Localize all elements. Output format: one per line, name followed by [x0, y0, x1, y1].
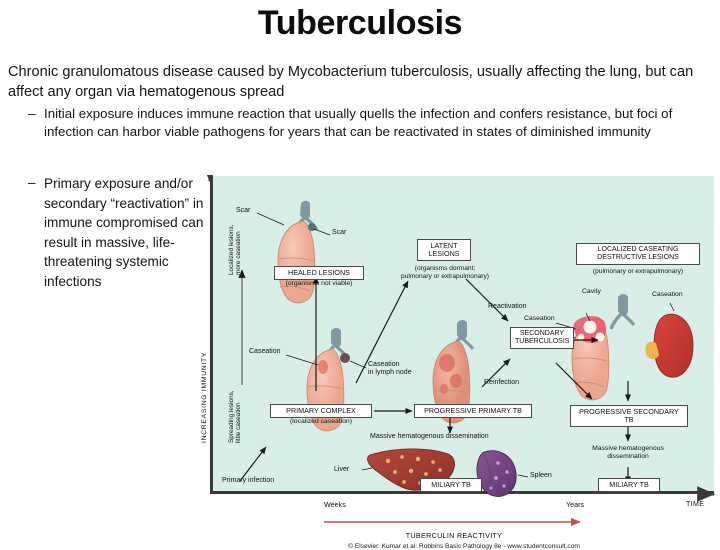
bullet-text-1: Initial exposure induces immune reaction…	[44, 105, 684, 141]
reactivation-label: Reactivation	[488, 303, 527, 311]
bullet-item-1: – Initial exposure induces immune reacti…	[28, 105, 688, 141]
box-progressive-secondary-tb[interactable]: PROGRESSIVE SECONDARY TB	[570, 405, 688, 427]
page-title: Tuberculosis	[0, 4, 720, 43]
caseation-primary-label: Caseation	[249, 348, 281, 356]
box-healed-lesions-subtitle: (organisms not viable)	[270, 280, 368, 288]
spleen-label: Spleen	[530, 472, 552, 480]
caseation-kidney-label: Caseation	[652, 291, 683, 299]
scar-left-label: Scar	[236, 207, 250, 215]
y-axis-title: INCREASING IMMUNITY	[201, 352, 209, 443]
reinfection-label: Reinfection	[484, 379, 519, 387]
y-axis-bottom-label: Spreading lesions, little caseation	[228, 390, 242, 443]
box-miliary-tb-left[interactable]: MILIARY TB	[420, 478, 482, 492]
bullet-item-2: – Primary exposure and/or secondary “rea…	[28, 174, 208, 292]
y-axis-top-label: Localized lesions, more caseation	[228, 225, 242, 275]
spleen-illustration	[477, 451, 528, 497]
bullet-dash-icon: –	[28, 174, 44, 192]
caseation-secondary-label: Caseation	[524, 315, 555, 323]
box-localized-caseating-subtitle: (pulmonary or extrapulmonary)	[572, 268, 704, 276]
primary-infection-label: Primary infection	[222, 477, 274, 485]
cavity-label: Cavity	[582, 288, 601, 296]
bullet-dash-icon: –	[28, 105, 44, 123]
box-healed-lesions[interactable]: HEALED LESIONS	[274, 266, 364, 280]
kidney-illustration	[645, 303, 693, 377]
box-miliary-tb-right[interactable]: MILIARY TB	[598, 478, 660, 492]
box-latent-lesions[interactable]: LATENT LESIONS	[417, 239, 471, 261]
lead-paragraph: Chronic granulomatous disease caused by …	[8, 62, 698, 102]
tuberculosis-pathogenesis-figure: INCREASING IMMUNITY Localized lesions, m…	[204, 175, 720, 539]
massive-dissemination-left-label: Massive hematogenous dissemination	[370, 433, 489, 441]
figure-copyright: © Elsevier. Kumar et al: Robbins Basic P…	[244, 543, 684, 550]
box-progressive-primary-tb[interactable]: PROGRESSIVE PRIMARY TB	[414, 404, 532, 418]
bullet-text-2: Primary exposure and/or secondary “react…	[44, 174, 204, 292]
box-localized-caseating-destructive-lesions[interactable]: LOCALIZED CASEATING DESTRUCTIVE LESIONS	[576, 243, 700, 265]
massive-dissemination-right-label: Massive hematogenous dissemination	[572, 445, 684, 461]
caseation-lymph-node-label: Caseation in lymph node	[368, 361, 412, 377]
x-axis-time-label: TIME	[686, 501, 704, 509]
x-axis-years-label: Years	[566, 501, 584, 509]
box-primary-complex-subtitle: (localized caseation)	[266, 418, 376, 426]
x-axis-weeks-label: Weeks	[324, 501, 346, 509]
liver-label: Liver	[334, 466, 349, 474]
box-secondary-tuberculosis[interactable]: SECONDARY TUBERCULOSIS	[510, 327, 574, 349]
scar-right-label: Scar	[332, 229, 346, 237]
box-primary-complex[interactable]: PRIMARY COMPLEX	[270, 404, 372, 418]
box-latent-lesions-subtitle: (organisms dormant; pulmonary or extrapu…	[394, 265, 496, 280]
